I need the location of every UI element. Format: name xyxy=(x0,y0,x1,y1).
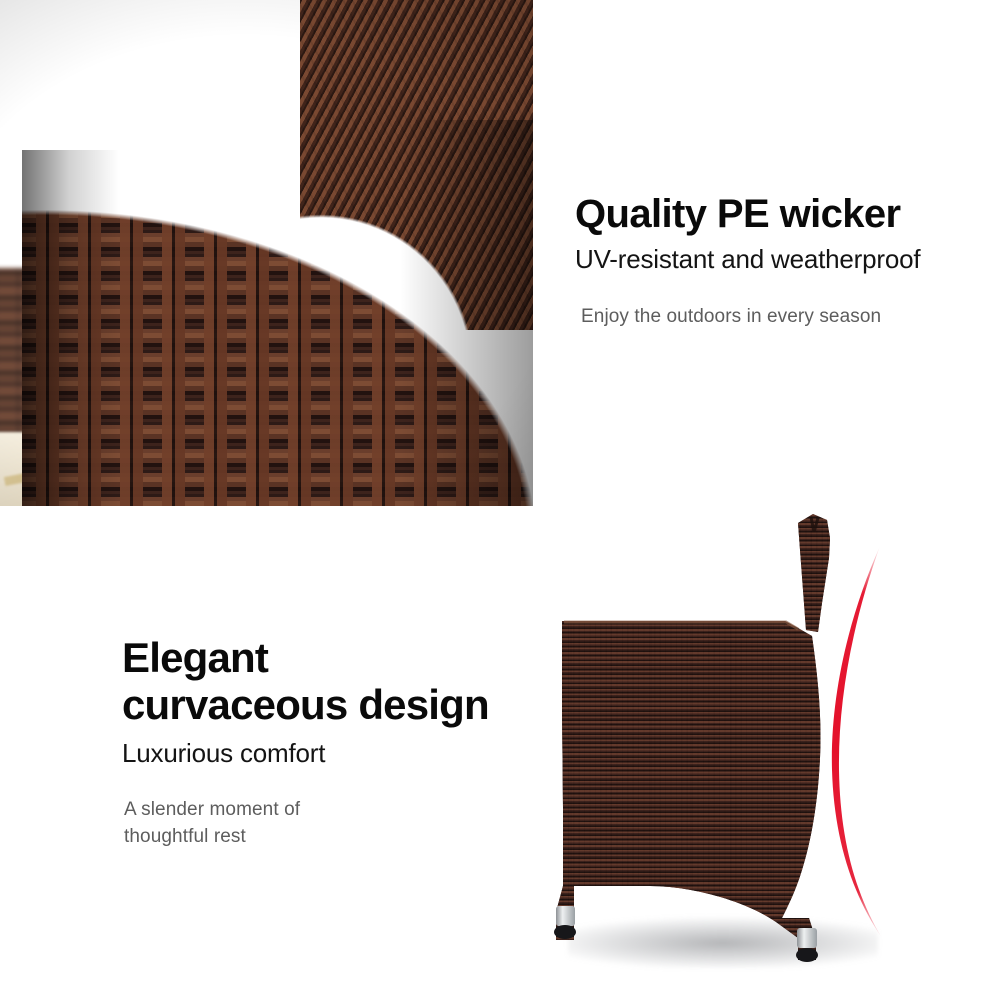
rim-highlight xyxy=(30,60,533,68)
design-subheading: Luxurious comfort xyxy=(122,738,542,769)
feature-block-design: Elegant curvaceous design Luxurious comf… xyxy=(122,634,542,851)
wicker-closeup-photo xyxy=(0,0,533,506)
design-caption: A slender moment of thoughtful rest xyxy=(124,797,542,851)
design-heading-line2: curvaceous design xyxy=(122,681,489,728)
quality-subheading: UV-resistant and weatherproof xyxy=(575,244,985,275)
product-feature-stage: Quality PE wicker UV-resistant and weath… xyxy=(0,0,1000,1000)
feature-block-quality: Quality PE wicker UV-resistant and weath… xyxy=(575,192,985,329)
quality-caption: Enjoy the outdoors in every season xyxy=(581,305,985,330)
chair-profile-photo xyxy=(530,508,1000,1000)
design-caption-line1: A slender moment of xyxy=(124,799,300,820)
design-caption-line2: thoughtful rest xyxy=(124,826,246,847)
quality-heading: Quality PE wicker xyxy=(575,192,985,236)
design-heading: Elegant curvaceous design xyxy=(122,634,542,728)
chair-details xyxy=(530,508,1000,1000)
design-heading-line1: Elegant xyxy=(122,634,268,681)
foreground-basket-weave xyxy=(22,62,533,506)
